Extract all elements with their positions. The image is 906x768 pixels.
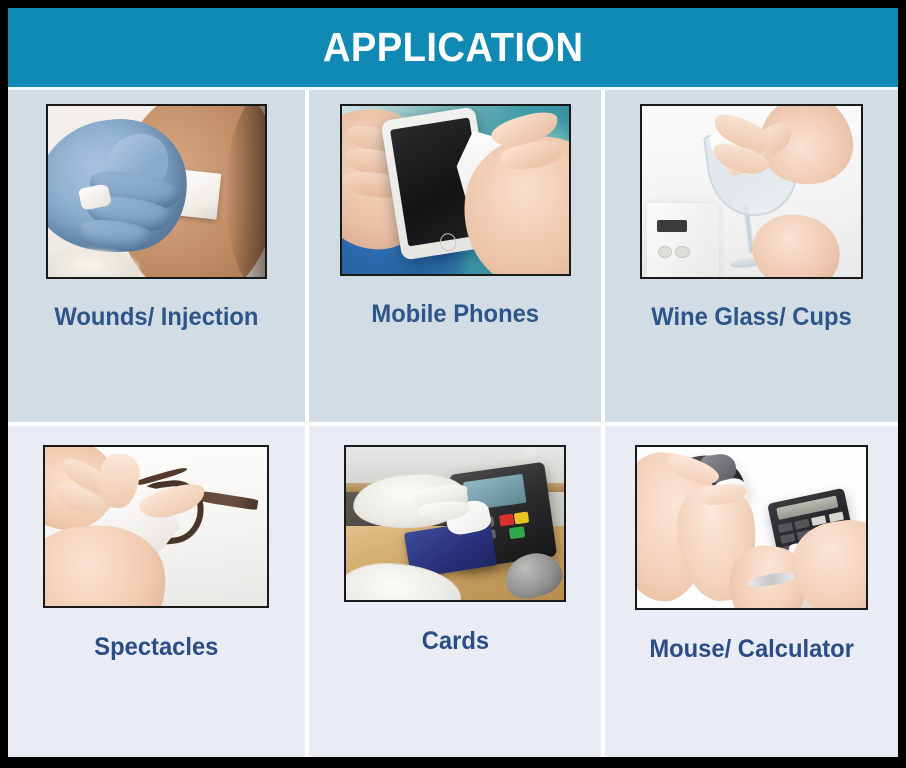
application-cell-wounds-injection[interactable]: Wounds/ Injection (8, 90, 305, 422)
application-label: Mouse/ Calculator (649, 635, 854, 664)
application-label: Wounds/ Injection (54, 303, 258, 332)
application-label: Spectacles (94, 633, 218, 662)
photo-frame (46, 104, 267, 279)
gloved-hands-wiping-card-payment-terminal-image (346, 447, 564, 600)
application-cell-spectacles[interactable]: Spectacles (8, 426, 305, 758)
photo-frame (635, 445, 868, 610)
photo-frame (640, 104, 863, 279)
photo-frame (340, 104, 571, 276)
application-cell-wine-glass-cups[interactable]: Wine Glass/ Cups (601, 90, 898, 422)
application-label: Wine Glass/ Cups (651, 303, 851, 332)
application-cell-cards[interactable]: Cards (305, 426, 602, 758)
grid-row: Wounds/ Injection (8, 90, 898, 422)
hands-wiping-smartphone-with-tissue-image (342, 106, 569, 274)
application-label: Cards (421, 627, 488, 656)
application-grid: Wounds/ Injection (8, 90, 898, 757)
hands-cleaning-computer-mouse-and-calculator-image (637, 447, 866, 608)
page-title: APPLICATION (323, 24, 584, 71)
poster-content: APPLICATION (8, 8, 898, 757)
photo-frame (344, 445, 566, 602)
hands-cleaning-eyeglasses-with-tissue-image (45, 447, 267, 606)
gloved-hand-wiping-arm-with-swab-image (48, 106, 265, 277)
grid-row: Spectacles (8, 422, 898, 758)
application-label: Mobile Phones (371, 300, 539, 329)
application-cell-mouse-calculator[interactable]: Mouse/ Calculator (601, 426, 898, 758)
application-cell-mobile-phones[interactable]: Mobile Phones (305, 90, 602, 422)
hands-polishing-wine-glass-with-cloth-image (642, 106, 861, 277)
header-banner: APPLICATION (8, 8, 898, 90)
photo-frame (43, 445, 269, 608)
application-poster: APPLICATION (0, 0, 906, 768)
